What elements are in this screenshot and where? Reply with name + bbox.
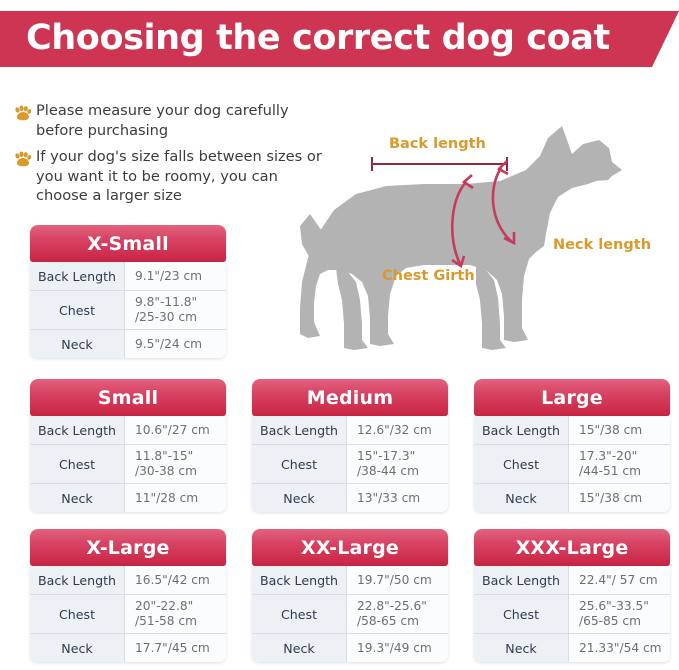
table-row: Chest 25.6"-33.5" /65-85 cm	[474, 595, 670, 634]
table-row: Chest 11.8"-15" /30-38 cm	[30, 445, 226, 484]
table-row: Chest 15"-17.3" /38-44 cm	[252, 445, 448, 484]
row-label: Neck	[252, 484, 346, 512]
row-label: Neck	[30, 330, 124, 358]
table-row: Neck 17.7"/45 cm	[30, 634, 226, 662]
header-banner: Choosing the correct dog coat	[0, 11, 679, 67]
table-row: Back Length 19.7"/50 cm	[252, 566, 448, 595]
size-table-xx-large: XX-Large Back Length 19.7"/50 cm Chest 2…	[252, 529, 448, 662]
size-table-x-small: X-Small Back Length 9.1"/23 cm Chest 9.8…	[30, 225, 226, 358]
row-value: 17.3"-20" /44-51 cm	[568, 445, 670, 483]
row-label: Neck	[252, 634, 346, 662]
row-value: 17.7"/45 cm	[124, 634, 226, 662]
size-table-large: Large Back Length 15"/38 cm Chest 17.3"-…	[474, 379, 670, 512]
table-row: Chest 22.8"-25.6" /58-65 cm	[252, 595, 448, 634]
size-table-title: XX-Large	[252, 529, 448, 566]
paw-icon	[14, 105, 31, 121]
row-value: 11.8"-15" /30-38 cm	[124, 445, 226, 483]
size-table-small: Small Back Length 10.6"/27 cm Chest 11.8…	[30, 379, 226, 512]
table-row: Chest 9.8"-11.8" /25-30 cm	[30, 291, 226, 330]
size-table-title: Medium	[252, 379, 448, 416]
row-value: 19.7"/50 cm	[346, 566, 448, 594]
row-value: 15"-17.3" /38-44 cm	[346, 445, 448, 483]
row-label: Neck	[474, 484, 568, 512]
size-table-body: Back Length 9.1"/23 cm Chest 9.8"-11.8" …	[30, 262, 226, 358]
table-row: Back Length 16.5"/42 cm	[30, 566, 226, 595]
table-row: Chest 20"-22.8" /51-58 cm	[30, 595, 226, 634]
size-table-title: Large	[474, 379, 670, 416]
size-table-medium: Medium Back Length 12.6"/32 cm Chest 15"…	[252, 379, 448, 512]
paw-icon	[14, 151, 31, 167]
row-label: Back Length	[474, 416, 568, 444]
chest-girth-label: Chest Girth	[382, 268, 475, 284]
row-value: 11"/28 cm	[124, 484, 226, 512]
size-table-body: Back Length 22.4"/ 57 cm Chest 25.6"-33.…	[474, 566, 670, 662]
size-table-body: Back Length 19.7"/50 cm Chest 22.8"-25.6…	[252, 566, 448, 662]
row-label: Chest	[30, 291, 124, 329]
row-label: Back Length	[30, 416, 124, 444]
size-table-xxx-large: XXX-Large Back Length 22.4"/ 57 cm Chest…	[474, 529, 670, 662]
row-value: 9.5"/24 cm	[124, 330, 226, 358]
table-row: Back Length 22.4"/ 57 cm	[474, 566, 670, 595]
neck-length-label: Neck length	[553, 237, 651, 253]
list-item: Please measure your dog carefully before…	[14, 101, 324, 140]
row-value: 20"-22.8" /51-58 cm	[124, 595, 226, 633]
row-value: 10.6"/27 cm	[124, 416, 226, 444]
row-label: Chest	[252, 445, 346, 483]
page-title: Choosing the correct dog coat	[26, 18, 610, 58]
row-value: 25.6"-33.5" /65-85 cm	[568, 595, 670, 633]
table-row: Neck 11"/28 cm	[30, 484, 226, 512]
table-row: Back Length 10.6"/27 cm	[30, 416, 226, 445]
size-table-x-large: X-Large Back Length 16.5"/42 cm Chest 20…	[30, 529, 226, 662]
table-row: Neck 9.5"/24 cm	[30, 330, 226, 358]
row-value: 15"/38 cm	[568, 484, 670, 512]
row-value: 13"/33 cm	[346, 484, 448, 512]
size-table-title: Small	[30, 379, 226, 416]
table-row: Neck 19.3"/49 cm	[252, 634, 448, 662]
list-item: If your dog's size falls between sizes o…	[14, 147, 324, 206]
row-value: 9.1"/23 cm	[124, 262, 226, 290]
row-value: 22.8"-25.6" /58-65 cm	[346, 595, 448, 633]
row-label: Chest	[474, 595, 568, 633]
size-table-body: Back Length 12.6"/32 cm Chest 15"-17.3" …	[252, 416, 448, 512]
table-row: Neck 13"/33 cm	[252, 484, 448, 512]
table-row: Neck 21.33"/54 cm	[474, 634, 670, 662]
row-label: Back Length	[252, 416, 346, 444]
row-value: 21.33"/54 cm	[568, 634, 670, 662]
size-table-title: X-Small	[30, 225, 226, 262]
table-row: Back Length 12.6"/32 cm	[252, 416, 448, 445]
size-table-title: X-Large	[30, 529, 226, 566]
list-item-label: If your dog's size falls between sizes o…	[36, 147, 324, 206]
table-row: Back Length 9.1"/23 cm	[30, 262, 226, 291]
row-value: 16.5"/42 cm	[124, 566, 226, 594]
row-value: 22.4"/ 57 cm	[568, 566, 670, 594]
list-item-label: Please measure your dog carefully before…	[36, 101, 324, 140]
size-table-title: XXX-Large	[474, 529, 670, 566]
row-label: Chest	[30, 445, 124, 483]
row-label: Chest	[474, 445, 568, 483]
row-label: Chest	[30, 595, 124, 633]
size-table-body: Back Length 15"/38 cm Chest 17.3"-20" /4…	[474, 416, 670, 512]
row-value: 19.3"/49 cm	[346, 634, 448, 662]
row-label: Chest	[252, 595, 346, 633]
row-label: Back Length	[30, 262, 124, 290]
row-label: Back Length	[252, 566, 346, 594]
table-row: Chest 17.3"-20" /44-51 cm	[474, 445, 670, 484]
row-value: 9.8"-11.8" /25-30 cm	[124, 291, 226, 329]
row-value: 12.6"/32 cm	[346, 416, 448, 444]
table-row: Neck 15"/38 cm	[474, 484, 670, 512]
dog-measurement-diagram: Back length Neck length Chest Girth	[300, 118, 679, 353]
row-value: 15"/38 cm	[568, 416, 670, 444]
row-label: Back Length	[30, 566, 124, 594]
table-row: Back Length 15"/38 cm	[474, 416, 670, 445]
row-label: Neck	[30, 634, 124, 662]
row-label: Back Length	[474, 566, 568, 594]
dog-silhouette-icon	[300, 118, 679, 353]
size-table-body: Back Length 16.5"/42 cm Chest 20"-22.8" …	[30, 566, 226, 662]
back-length-label: Back length	[389, 136, 486, 152]
row-label: Neck	[30, 484, 124, 512]
row-label: Neck	[474, 634, 568, 662]
instruction-list: Please measure your dog carefully before…	[14, 101, 324, 213]
size-table-body: Back Length 10.6"/27 cm Chest 11.8"-15" …	[30, 416, 226, 512]
